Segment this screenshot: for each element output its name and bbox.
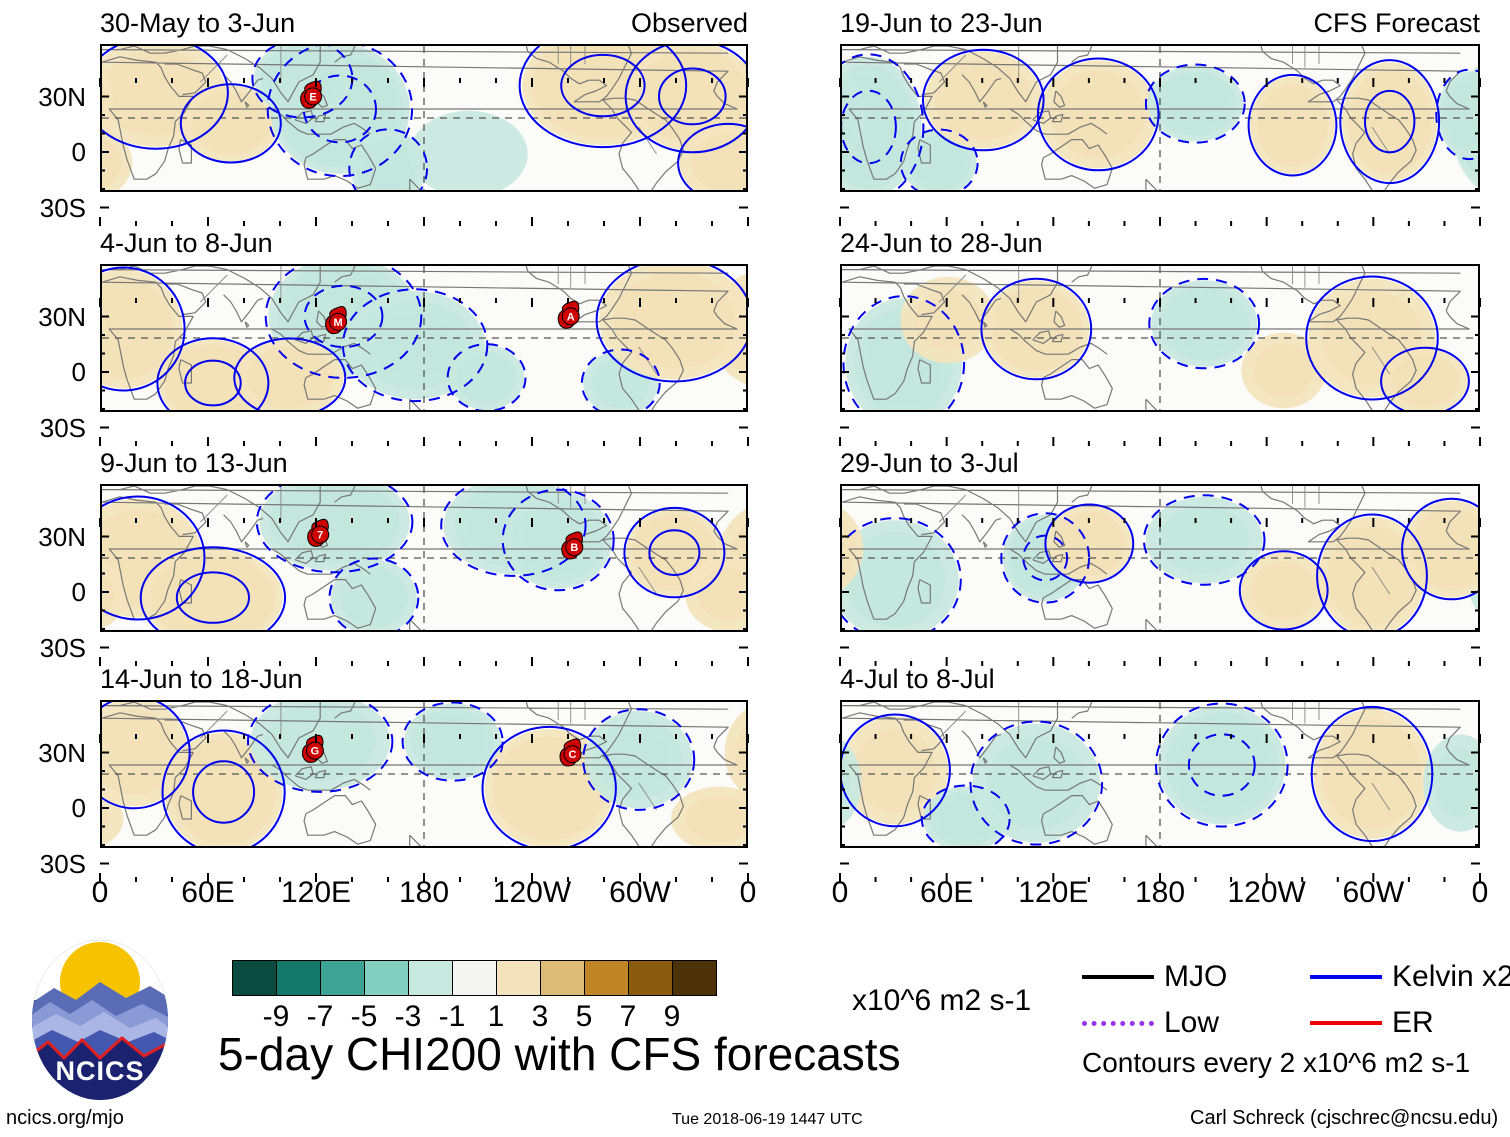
- x-axis-tick-label: 60W: [1342, 878, 1404, 908]
- legend-line-swatch: [1082, 1021, 1154, 1026]
- colorbar-units-label: x10^6 m2 s-1: [852, 986, 1031, 1016]
- colorbar-swatch: [233, 961, 277, 995]
- x-axis-tick-label: 180: [399, 878, 449, 908]
- x-axis-tick-label: 60E: [920, 878, 973, 908]
- colorbar-swatch: [497, 961, 541, 995]
- map-panel: 29-Jun to 3-Jul: [840, 450, 1480, 632]
- legend-item-low: Low: [1082, 1008, 1219, 1038]
- y-axis-tick-label: 30N: [0, 84, 86, 110]
- x-axis-tick-label: 0: [92, 878, 109, 908]
- x-axis-tick-label: 120E: [281, 878, 351, 908]
- svg-text:NCICS: NCICS: [55, 1056, 144, 1086]
- y-axis-tick-label: 30N: [0, 740, 86, 766]
- colorbar-swatch: [277, 961, 321, 995]
- svg-text:B: B: [570, 542, 578, 554]
- y-axis-tick-label: 30S: [0, 851, 86, 877]
- y-axis-tick-label: 30N: [0, 524, 86, 550]
- timestamp: Tue 2018-06-19 1447 UTC: [672, 1110, 863, 1130]
- panel-title: 30-May to 3-Jun: [100, 10, 295, 37]
- panel-title: 4-Jun to 8-Jun: [100, 230, 273, 257]
- panel-title: 24-Jun to 28-Jun: [840, 230, 1043, 257]
- y-axis-tick-label: 30S: [0, 195, 86, 221]
- legend-label: Low: [1164, 1008, 1219, 1038]
- panel-title: 19-Jun to 23-Jun: [840, 10, 1043, 37]
- map-plot-area: GC: [100, 700, 748, 848]
- panel-title: 14-Jun to 18-Jun: [100, 666, 303, 693]
- svg-text:E: E: [309, 91, 316, 103]
- x-axis-tick-label: 120W: [1227, 878, 1305, 908]
- colorbar-swatch: [629, 961, 673, 995]
- x-axis-tick-label: 60W: [609, 878, 671, 908]
- y-axis-tick-label: 0: [0, 359, 86, 385]
- legend-item-mjo: MJO: [1082, 962, 1227, 992]
- colorbar-swatch: [541, 961, 585, 995]
- map-plot-area: MA: [100, 264, 748, 412]
- x-axis-tick-label: 120W: [493, 878, 571, 908]
- map-panel: 9-Jun to 13-Jun7B: [100, 450, 748, 632]
- legend-label: ER: [1392, 1008, 1434, 1038]
- x-axis-tick-label: 0: [1472, 878, 1489, 908]
- panel-title: 9-Jun to 13-Jun: [100, 450, 288, 477]
- y-axis-tick-label: 0: [0, 795, 86, 821]
- map-panel: 24-Jun to 28-Jun: [840, 230, 1480, 412]
- colorbar-swatch: [321, 961, 365, 995]
- y-axis-tick-label: 30N: [0, 304, 86, 330]
- x-axis-tick-label: 180: [1135, 878, 1185, 908]
- svg-text:G: G: [311, 746, 320, 758]
- map-plot-area: [840, 700, 1480, 848]
- svg-text:7: 7: [317, 530, 323, 542]
- map-panel: 30-May to 3-JunObservedE: [100, 10, 748, 192]
- x-axis-tick-label: 0: [832, 878, 849, 908]
- site-link[interactable]: ncics.org/mjo: [6, 1108, 124, 1128]
- map-plot-area: [840, 44, 1480, 192]
- map-plot-area: 7B: [100, 484, 748, 632]
- svg-text:A: A: [567, 311, 575, 323]
- legend-line-swatch: [1310, 1021, 1382, 1025]
- svg-text:C: C: [569, 749, 577, 761]
- map-panel: 19-Jun to 23-JunCFS Forecast: [840, 10, 1480, 192]
- y-axis-tick-label: 0: [0, 139, 86, 165]
- map-panel: 14-Jun to 18-JunGC: [100, 666, 748, 848]
- legend-item-er: ER: [1310, 1008, 1434, 1038]
- panel-column-header: Observed: [631, 10, 748, 37]
- legend-line-swatch: [1310, 975, 1382, 979]
- map-plot-area: [840, 484, 1480, 632]
- y-axis-tick-label: 30S: [0, 415, 86, 441]
- x-axis-tick-label: 0: [740, 878, 757, 908]
- y-axis-tick-label: 30S: [0, 635, 86, 661]
- y-axis-tick-label: 0: [0, 579, 86, 605]
- colorbar-swatch: [365, 961, 409, 995]
- panel-column-header: CFS Forecast: [1313, 10, 1480, 37]
- contour-interval-note: Contours every 2 x10^6 m2 s-1: [1082, 1049, 1470, 1077]
- panel-title: 4-Jul to 8-Jul: [840, 666, 995, 693]
- legend-label: Kelvin x2: [1392, 962, 1510, 992]
- map-panel: 4-Jun to 8-JunMA: [100, 230, 748, 412]
- colorbar-swatch: [409, 961, 453, 995]
- svg-text:M: M: [334, 317, 343, 329]
- figure-caption: 5-day CHI200 with CFS forecasts: [218, 1031, 901, 1077]
- map-plot-area: [840, 264, 1480, 412]
- map-plot-area: E: [100, 44, 748, 192]
- colorbar-swatch: [673, 961, 716, 995]
- x-axis-tick-label: 120E: [1018, 878, 1088, 908]
- mjo-chi200-figure: 30-May to 3-JunObservedE4-Jun to 8-JunMA…: [0, 0, 1510, 1137]
- legend-item-kelvin-x2: Kelvin x2: [1310, 962, 1510, 992]
- legend-line-swatch: [1082, 975, 1154, 979]
- colorbar-swatches: [232, 960, 717, 996]
- x-axis-tick-label: 60E: [181, 878, 234, 908]
- ncics-logo-graphic: NCICS: [30, 938, 170, 1102]
- colorbar-swatch: [585, 961, 629, 995]
- colorbar-swatch: [453, 961, 497, 995]
- author-credit: Carl Schreck (cjschrec@ncsu.edu): [1190, 1108, 1498, 1128]
- ncics-logo: NCICS: [30, 938, 170, 1102]
- legend-label: MJO: [1164, 962, 1227, 992]
- panel-title: 29-Jun to 3-Jul: [840, 450, 1019, 477]
- map-panel: 4-Jul to 8-Jul: [840, 666, 1480, 848]
